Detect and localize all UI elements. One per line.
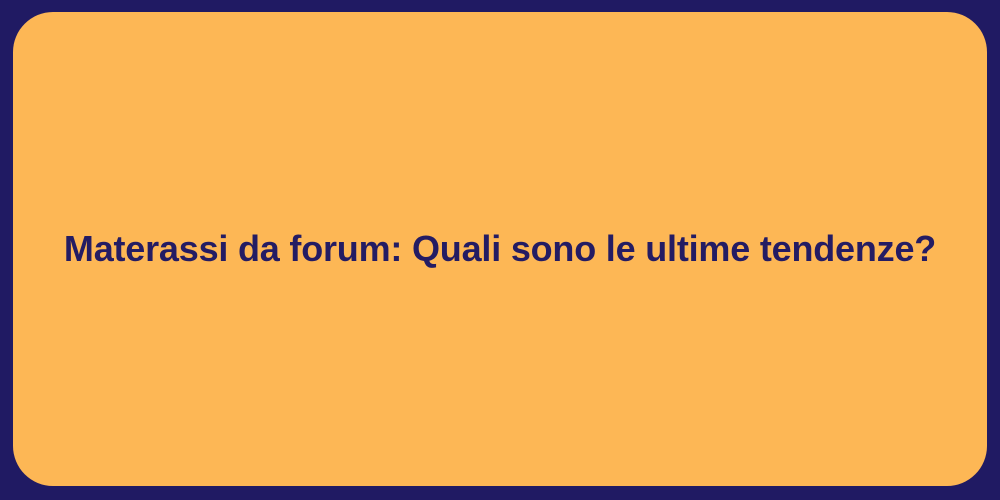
banner-panel: Materassi da forum: Quali sono le ultime… [13,12,987,486]
banner-title: Materassi da forum: Quali sono le ultime… [64,227,936,270]
banner-outer-frame: Materassi da forum: Quali sono le ultime… [0,0,1000,500]
